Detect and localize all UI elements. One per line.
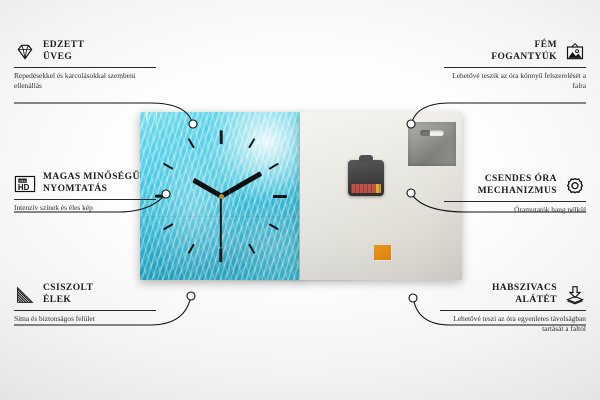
feature-polished-edges[interactable]: CSISZOLT ÉLEK Sima és biztonságos felüle… [14, 283, 156, 324]
feature-description: Intenzív színek és éles kép [14, 203, 156, 213]
feature-header: CSENDES ÓRA MECHANIZMUS [444, 174, 586, 198]
feature-divider [440, 310, 586, 311]
feature-title-line2: NYOMTATÁS [43, 184, 140, 196]
gear-icon [564, 176, 586, 196]
infographic-stage: EDZETT ÜVEG Repedésekkel és karcolásokka… [0, 0, 600, 400]
feature-description: Sima és biztonságos felület [14, 314, 156, 324]
feature-tempered-glass[interactable]: EDZETT ÜVEG Repedésekkel és karcolásokka… [14, 40, 156, 91]
feature-title-line2: ÜVEG [43, 52, 84, 64]
battery-label [351, 184, 381, 193]
clock-second-hand [220, 196, 222, 248]
foam-pad-icon [564, 285, 586, 305]
feature-header: ultra HD MAGAS MINŐSÉGŰ NYOMTATÁS [14, 172, 156, 196]
mechanism-tab [359, 155, 373, 162]
clock-tick [163, 223, 174, 230]
feature-title: FÉM FOGANTYÚK [491, 40, 557, 64]
feature-header: HABSZIVACS ALÁTÉT [440, 283, 586, 307]
feature-description: Lehetővé teszi az óra egyenletes távolsá… [440, 314, 586, 334]
product-image [140, 112, 462, 280]
clock-mechanism [348, 160, 384, 196]
clock-tick [187, 138, 194, 149]
clock-face [140, 112, 302, 280]
clock-hour-hand [192, 178, 222, 198]
battery [351, 184, 381, 193]
feature-metal-hangers[interactable]: FÉM FOGANTYÚK Lehetővé teszik az óra kön… [444, 40, 586, 91]
clock-tick [268, 223, 279, 230]
clock-tick [248, 243, 255, 254]
beveled-edge-icon [14, 285, 36, 305]
feature-title-line1: CSENDES ÓRA [478, 174, 557, 186]
clock-tick [220, 248, 223, 262]
feature-title: MAGAS MINŐSÉGŰ NYOMTATÁS [43, 172, 140, 196]
clock-tick [268, 162, 279, 169]
feature-divider [444, 201, 586, 202]
clock-tick [163, 162, 174, 169]
feature-title-line1: MAGAS MINŐSÉGŰ [43, 172, 140, 184]
clock-back-panel [300, 112, 462, 280]
clock-tick [248, 138, 255, 149]
feature-title-line1: EDZETT [43, 40, 84, 52]
feature-header: EDZETT ÜVEG [14, 40, 156, 64]
feature-description: Lehetővé teszik az óra könnyű felszerelé… [444, 71, 586, 91]
feature-header: FÉM FOGANTYÚK [444, 40, 586, 64]
feature-silent-mechanism[interactable]: CSENDES ÓRA MECHANIZMUS Óramutatók hang … [444, 174, 586, 215]
clock-tick [220, 130, 223, 144]
clock-tick [187, 243, 194, 254]
clock-tick [155, 195, 169, 198]
ultra-hd-icon: ultra HD [14, 174, 36, 194]
feature-title-line1: HABSZIVACS [492, 283, 557, 295]
feature-title-line2: ALÁTÉT [492, 295, 557, 307]
feature-title-line2: MECHANIZMUS [478, 186, 557, 198]
feature-title-line2: FOGANTYÚK [491, 52, 557, 64]
feature-title: CSENDES ÓRA MECHANIZMUS [478, 174, 557, 198]
feature-title: HABSZIVACS ALÁTÉT [492, 283, 557, 307]
feature-title: EDZETT ÜVEG [43, 40, 84, 64]
picture-hanger-icon [564, 42, 586, 62]
foam-spacer [374, 245, 391, 260]
feature-description: Repedésekkel és karcolásokkal szembeni e… [14, 71, 156, 91]
feature-divider [14, 199, 156, 200]
feature-divider [14, 310, 156, 311]
feature-header: CSISZOLT ÉLEK [14, 283, 156, 307]
feature-title-line1: FÉM [491, 40, 557, 52]
feature-description: Óramutatók hang nélkül [444, 205, 586, 215]
feature-title-line1: CSISZOLT [43, 283, 93, 295]
feature-high-quality-print[interactable]: ultra HD MAGAS MINŐSÉGŰ NYOMTATÁS Intenz… [14, 172, 156, 213]
metal-hanger [408, 122, 456, 166]
hanger-slot [420, 130, 444, 136]
clock-center-pin [219, 194, 224, 199]
clock-tick [273, 195, 287, 198]
feature-divider [14, 67, 156, 68]
feature-divider [444, 67, 586, 68]
diamond-icon [14, 42, 36, 62]
clock-minute-hand [220, 171, 262, 198]
feature-title-line2: ÉLEK [43, 295, 93, 307]
feature-title: CSISZOLT ÉLEK [43, 283, 93, 307]
feature-foam-pad[interactable]: HABSZIVACS ALÁTÉT Lehetővé teszi az óra … [440, 283, 586, 334]
svg-text:HD: HD [18, 183, 30, 192]
clock-front-panel [140, 112, 302, 280]
